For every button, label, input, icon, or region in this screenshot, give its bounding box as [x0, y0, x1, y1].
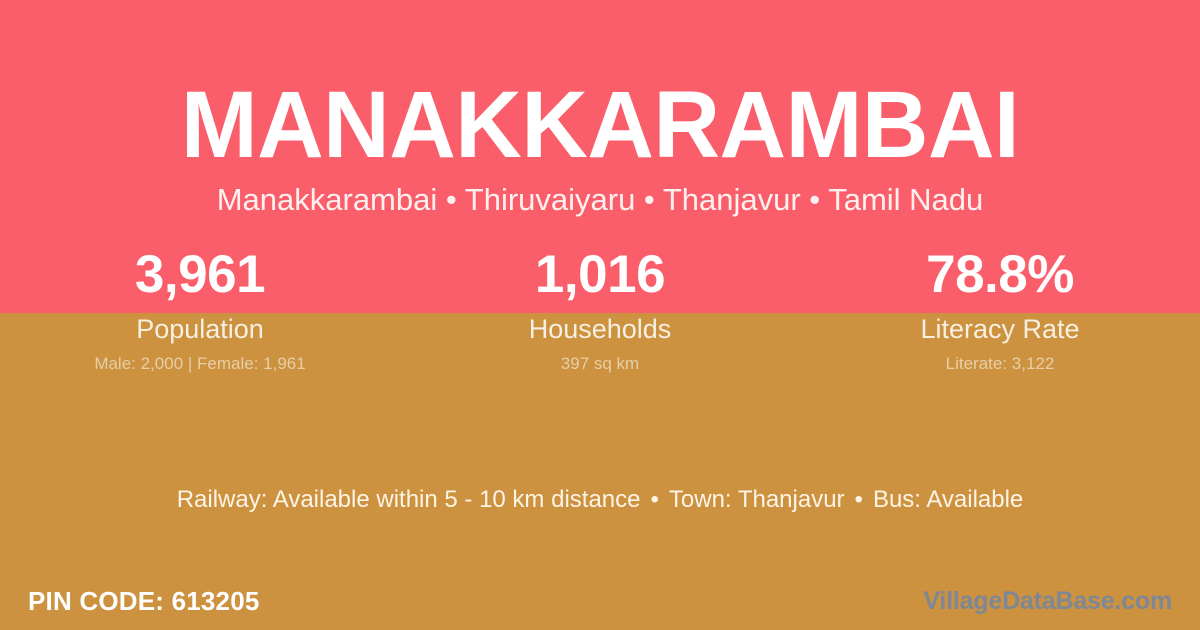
stat-label-literacy-rate: Literacy Rate [800, 314, 1200, 344]
page-title: MANAKKARAMBAI [18, 78, 1182, 173]
pin-code: PIN CODE: 613205 [28, 586, 260, 616]
stat-value-households: 1,016 [400, 244, 800, 306]
stat-sub-population: Male: 2,000 | Female: 1,961 [0, 354, 400, 374]
stat-value-literacy-rate: 78.8% [800, 244, 1200, 306]
amenity-town: Town: Thanjavur [669, 486, 845, 513]
stat-households: 1,016 Households 397 sq km [400, 244, 800, 374]
stat-sub-literacy-rate: Literate: 3,122 [800, 354, 1200, 374]
village-info-card: MANAKKARAMBAI Manakkarambai • Thiruvaiya… [0, 0, 1200, 630]
stat-population: 3,961 Population Male: 2,000 | Female: 1… [0, 244, 400, 374]
stat-label-households: Households [400, 314, 800, 344]
amenity-railway: Railway: Available within 5 - 10 km dist… [177, 486, 641, 513]
amenities-line: Railway: Available within 5 - 10 km dist… [0, 485, 1200, 515]
breadcrumb: Manakkarambai • Thiruvaiyaru • Thanjavur… [0, 183, 1200, 217]
footer: PIN CODE: 613205 VillageDataBase.com [0, 572, 1200, 630]
stat-label-population: Population [0, 314, 400, 344]
amenity-bus: Bus: Available [873, 486, 1023, 513]
stat-literacy-rate: 78.8% Literacy Rate Literate: 3,122 [800, 244, 1200, 374]
stat-value-population: 3,961 [0, 244, 400, 306]
amenity-separator-2: • [845, 485, 873, 515]
amenity-separator-1: • [640, 485, 668, 515]
stat-sub-households: 397 sq km [400, 354, 800, 374]
site-watermark: VillageDataBase.com [923, 586, 1172, 616]
stats-row: 3,961 Population Male: 2,000 | Female: 1… [0, 244, 1200, 374]
